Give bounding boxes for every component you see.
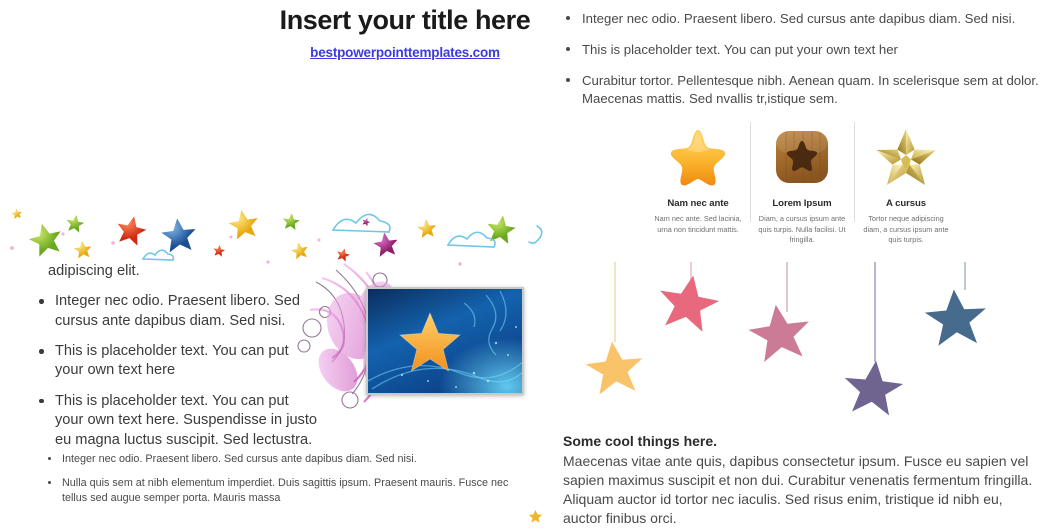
- title-block: Insert your title here bestpowerpointtem…: [250, 6, 560, 62]
- right-bullet-block: Integer nec odio. Praesent libero. Sed c…: [563, 10, 1043, 121]
- right-footer-body: Maecenas vitae ante quis, dapibus consec…: [563, 452, 1045, 528]
- list-item: Integer nec odio. Praesent libero. Sed c…: [563, 10, 1043, 28]
- feature-body: Tortor neque adipiscing diam, a cursus i…: [861, 214, 951, 246]
- list-item: Curabitur tortor. Pellentesque nibh. Aen…: [563, 72, 1043, 108]
- feature-body: Diam, a cursus ipsum ante quis turpis. N…: [757, 214, 847, 246]
- feature-heading: A cursus: [861, 198, 951, 209]
- left-footer-list: Integer nec odio. Praesent libero. Sed c…: [40, 452, 510, 506]
- blue-star-image: [366, 287, 524, 395]
- list-item: This is placeholder text. You can put yo…: [38, 392, 320, 450]
- list-item: This is placeholder text. You can put yo…: [563, 41, 1043, 59]
- site-link[interactable]: bestpowerpointtemplates.com: [310, 45, 500, 60]
- list-item: This is placeholder text. You can put yo…: [38, 342, 320, 381]
- gold-3d-star-icon: [861, 124, 951, 190]
- left-lead-text: adipiscing elit.: [48, 262, 320, 281]
- list-item: Nulla quis sem at nibh elementum imperdi…: [40, 476, 510, 506]
- hanging-stars-decoration: [560, 262, 1060, 438]
- feature-heading: Nam nec ante: [653, 198, 743, 209]
- feature-heading: Lorem Ipsum: [757, 198, 847, 209]
- left-footer-block: Integer nec odio. Praesent libero. Sed c…: [40, 452, 510, 515]
- right-footer-block: Some cool things here. Maecenas vitae an…: [563, 433, 1045, 528]
- feature-column-3: A cursus Tortor neque adipiscing diam, a…: [854, 124, 958, 246]
- right-bullet-list: Integer nec odio. Praesent libero. Sed c…: [563, 10, 1043, 108]
- wooden-star-tile-icon: [757, 124, 847, 190]
- orange-star-icon: [653, 124, 743, 190]
- right-footer-heading: Some cool things here.: [563, 433, 1045, 449]
- feature-column-1: Nam nec ante Nam nec ante. Sed lacinia, …: [646, 124, 750, 246]
- list-item: Integer nec odio. Praesent libero. Sed c…: [38, 292, 320, 331]
- list-item: Integer nec odio. Praesent libero. Sed c…: [40, 452, 510, 467]
- small-yellow-star-icon: [527, 508, 544, 525]
- left-bullet-list: Integer nec odio. Praesent libero. Sed c…: [38, 292, 320, 450]
- feature-columns: Nam nec ante Nam nec ante. Sed lacinia, …: [646, 124, 958, 246]
- feature-body: Nam nec ante. Sed lacinia, urna non tinc…: [653, 214, 743, 235]
- slide-canvas: Insert your title here bestpowerpointtem…: [0, 0, 1060, 530]
- feature-column-2: Lorem Ipsum Diam, a cursus ipsum ante qu…: [750, 124, 854, 246]
- left-content-block: adipiscing elit. Integer nec odio. Praes…: [38, 262, 320, 461]
- page-title: Insert your title here: [250, 6, 560, 36]
